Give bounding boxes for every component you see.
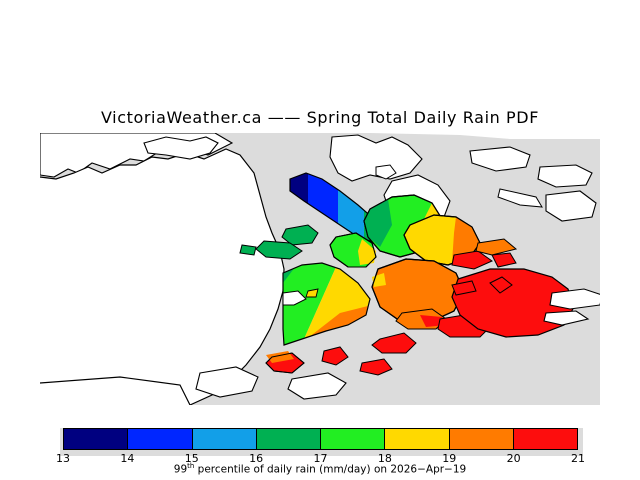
colorbar-segment-19-20[interactable] (450, 429, 514, 449)
colorbar-segment-17-18[interactable] (321, 429, 385, 449)
colorbar-segment-14-15[interactable] (128, 429, 192, 449)
page-title: VictoriaWeather.ca —— Spring Total Daily… (0, 108, 640, 127)
map-panel[interactable] (40, 133, 600, 405)
map-graphic[interactable] (40, 133, 600, 405)
colorbar-segment-13-14[interactable] (64, 429, 128, 449)
colorbar-segment-18-19[interactable] (385, 429, 449, 449)
caption-prefix: 99 (174, 464, 187, 476)
colorbar-caption: 99th percentile of daily rain (mm/day) o… (0, 462, 640, 476)
colorbar[interactable] (63, 428, 578, 450)
colorbar-container[interactable] (63, 428, 578, 450)
weather-map-page: VictoriaWeather.ca —— Spring Total Daily… (0, 0, 640, 480)
colorbar-segment-16-17[interactable] (257, 429, 321, 449)
colorbar-segment-20-21[interactable] (514, 429, 577, 449)
caption-suffix: percentile of daily rain (mm/day) on 202… (194, 464, 466, 476)
colorbar-segment-15-16[interactable] (193, 429, 257, 449)
